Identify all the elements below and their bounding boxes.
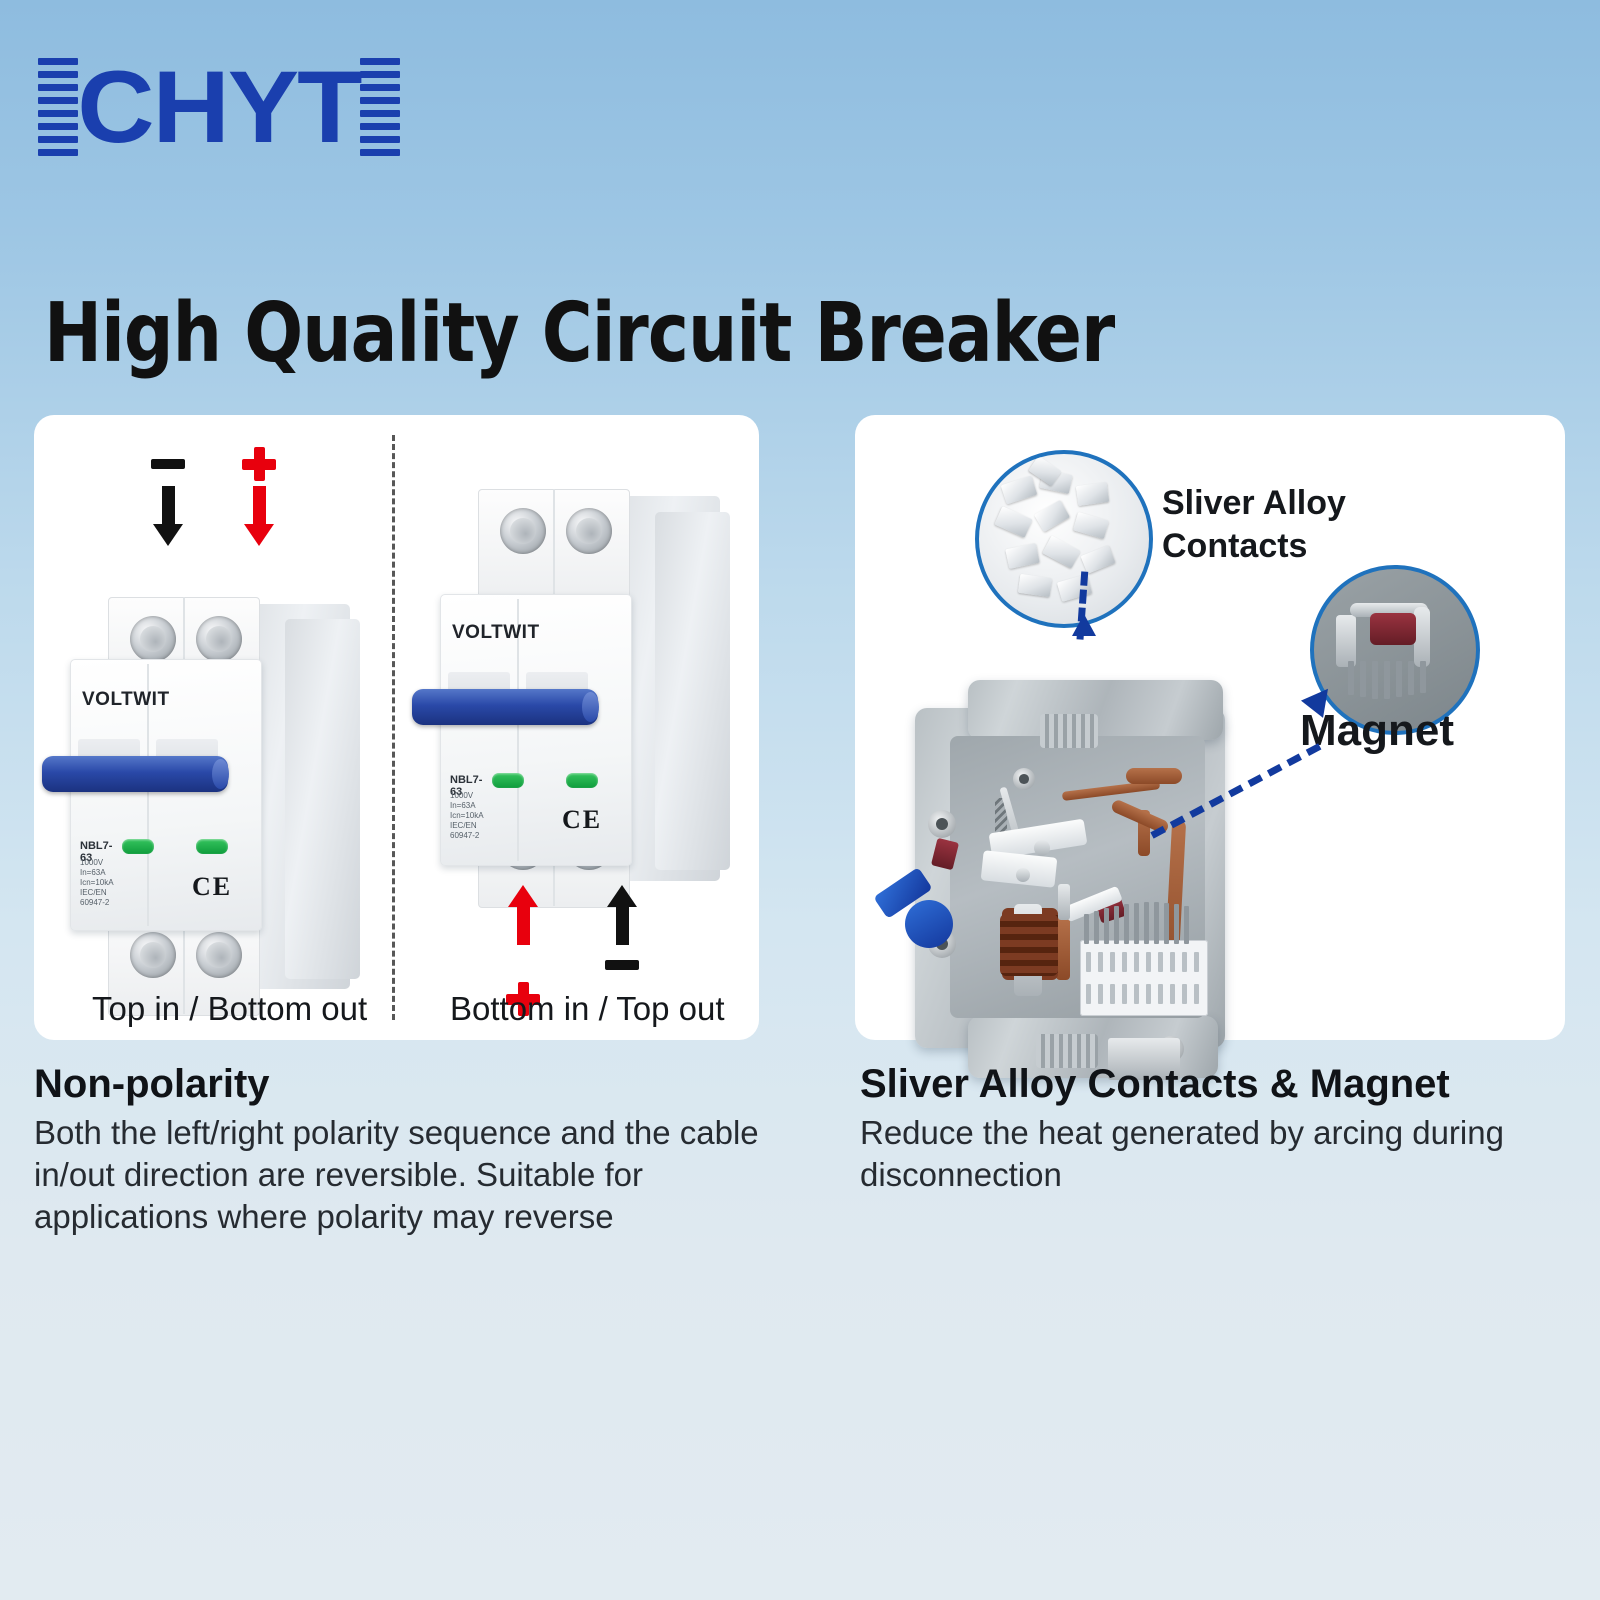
down-arrow-red-left xyxy=(244,486,274,546)
infographic-page: CHYT High Quality Circuit Breaker VOLTWI… xyxy=(0,0,1600,1600)
up-arrow-red-right xyxy=(508,885,538,945)
caption-top-in-bottom-out: Top in / Bottom out xyxy=(92,990,367,1028)
plus-symbol-top-left xyxy=(242,447,276,481)
silver-alloy-contacts-inset xyxy=(975,450,1153,628)
minus-symbol-top-left xyxy=(151,459,185,469)
leader-arrowhead-contacts xyxy=(1072,614,1096,636)
up-arrow-black-right xyxy=(607,885,637,945)
status-indicator-green xyxy=(122,839,154,854)
terminal-screw xyxy=(196,932,242,978)
feature-title-non-polarity: Non-polarity xyxy=(34,1062,270,1107)
card-divider xyxy=(392,435,395,1020)
terminal-screw xyxy=(566,508,612,554)
device-spec-text: 1000V In=63A Icn=10kA IEC/EN 60947-2 xyxy=(80,858,114,908)
logo-bars-left-icon xyxy=(38,58,78,156)
toggle-lever[interactable] xyxy=(412,689,598,725)
toggle-lever[interactable] xyxy=(42,756,228,792)
feature-title-contacts-magnet: Sliver Alloy Contacts & Magnet xyxy=(860,1062,1450,1107)
page-title: High Quality Circuit Breaker xyxy=(44,286,1114,381)
terminal-screw xyxy=(130,932,176,978)
logo-wordmark: CHYT xyxy=(77,56,360,158)
feature-body-non-polarity: Both the left/right polarity sequence an… xyxy=(34,1112,794,1239)
down-arrow-black-left xyxy=(153,486,183,546)
minus-symbol-bottom-right xyxy=(605,960,639,970)
status-indicator-green xyxy=(492,773,524,788)
ce-mark: CE xyxy=(562,805,602,835)
callout-silver-alloy-contacts: Sliver Alloy Contacts xyxy=(1162,482,1346,567)
logo-bars-right-icon xyxy=(360,58,400,156)
device-brand-label: VOLTWIT xyxy=(452,622,540,644)
device-spec-text: 1000V In=63A Icn=10kA IEC/EN 60947-2 xyxy=(450,791,484,841)
status-indicator-green xyxy=(566,773,598,788)
blue-lever-knob xyxy=(905,900,953,948)
ce-mark: CE xyxy=(192,872,232,902)
callout-line-2: Contacts xyxy=(1162,525,1346,568)
callout-line-1: Sliver Alloy xyxy=(1162,482,1346,525)
brand-logo: CHYT xyxy=(38,52,400,162)
status-indicator-green xyxy=(196,839,228,854)
terminal-screw xyxy=(130,616,176,662)
terminal-screw xyxy=(500,508,546,554)
feature-body-contacts-magnet: Reduce the heat generated by arcing duri… xyxy=(860,1112,1540,1196)
terminal-screw xyxy=(196,616,242,662)
device-brand-label: VOLTWIT xyxy=(82,689,170,711)
caption-bottom-in-top-out: Bottom in / Top out xyxy=(450,990,725,1028)
